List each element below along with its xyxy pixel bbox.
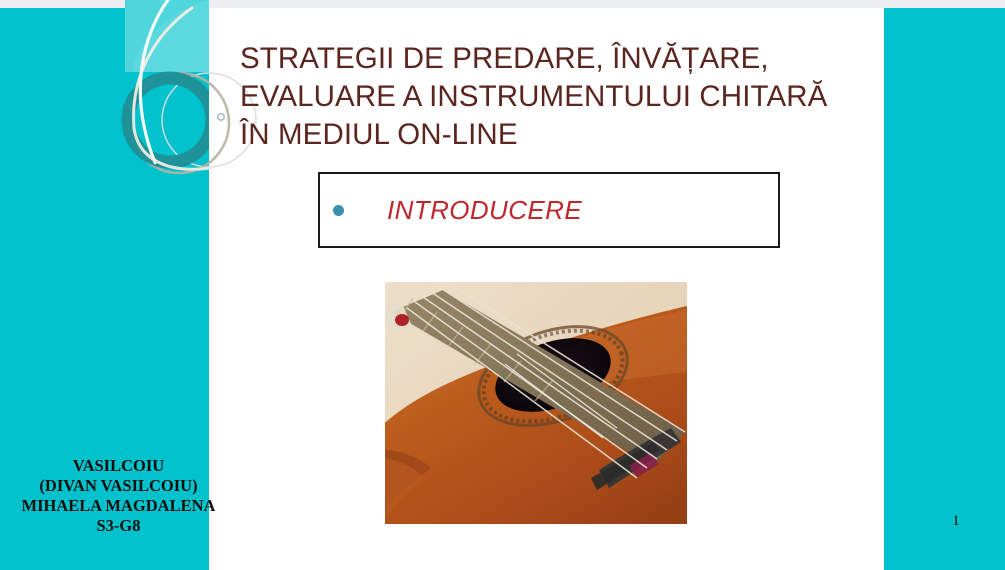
bullet-row: INTRODUCERE [320,174,778,246]
right-teal-panel [884,8,1005,570]
introduction-box[interactable]: INTRODUCERE [318,172,780,248]
slide-title: STRATEGII DE PREDARE, ÎNVĂȚARE, EVALUARE… [240,40,870,154]
small-circle-accent [218,114,224,120]
top-gutter-strip [0,0,1005,8]
bullet-item-label: INTRODUCERE [387,195,582,226]
author-name: VASILCOIU (DIVAN VASILCOIU) MIHAELA MAGD… [0,456,237,536]
bullet-dot-icon [333,205,344,216]
guitar-photo [385,282,687,524]
presentation-slide: STRATEGII DE PREDARE, ÎNVĂȚARE, EVALUARE… [0,0,1005,570]
page-number: 1 [946,513,966,530]
